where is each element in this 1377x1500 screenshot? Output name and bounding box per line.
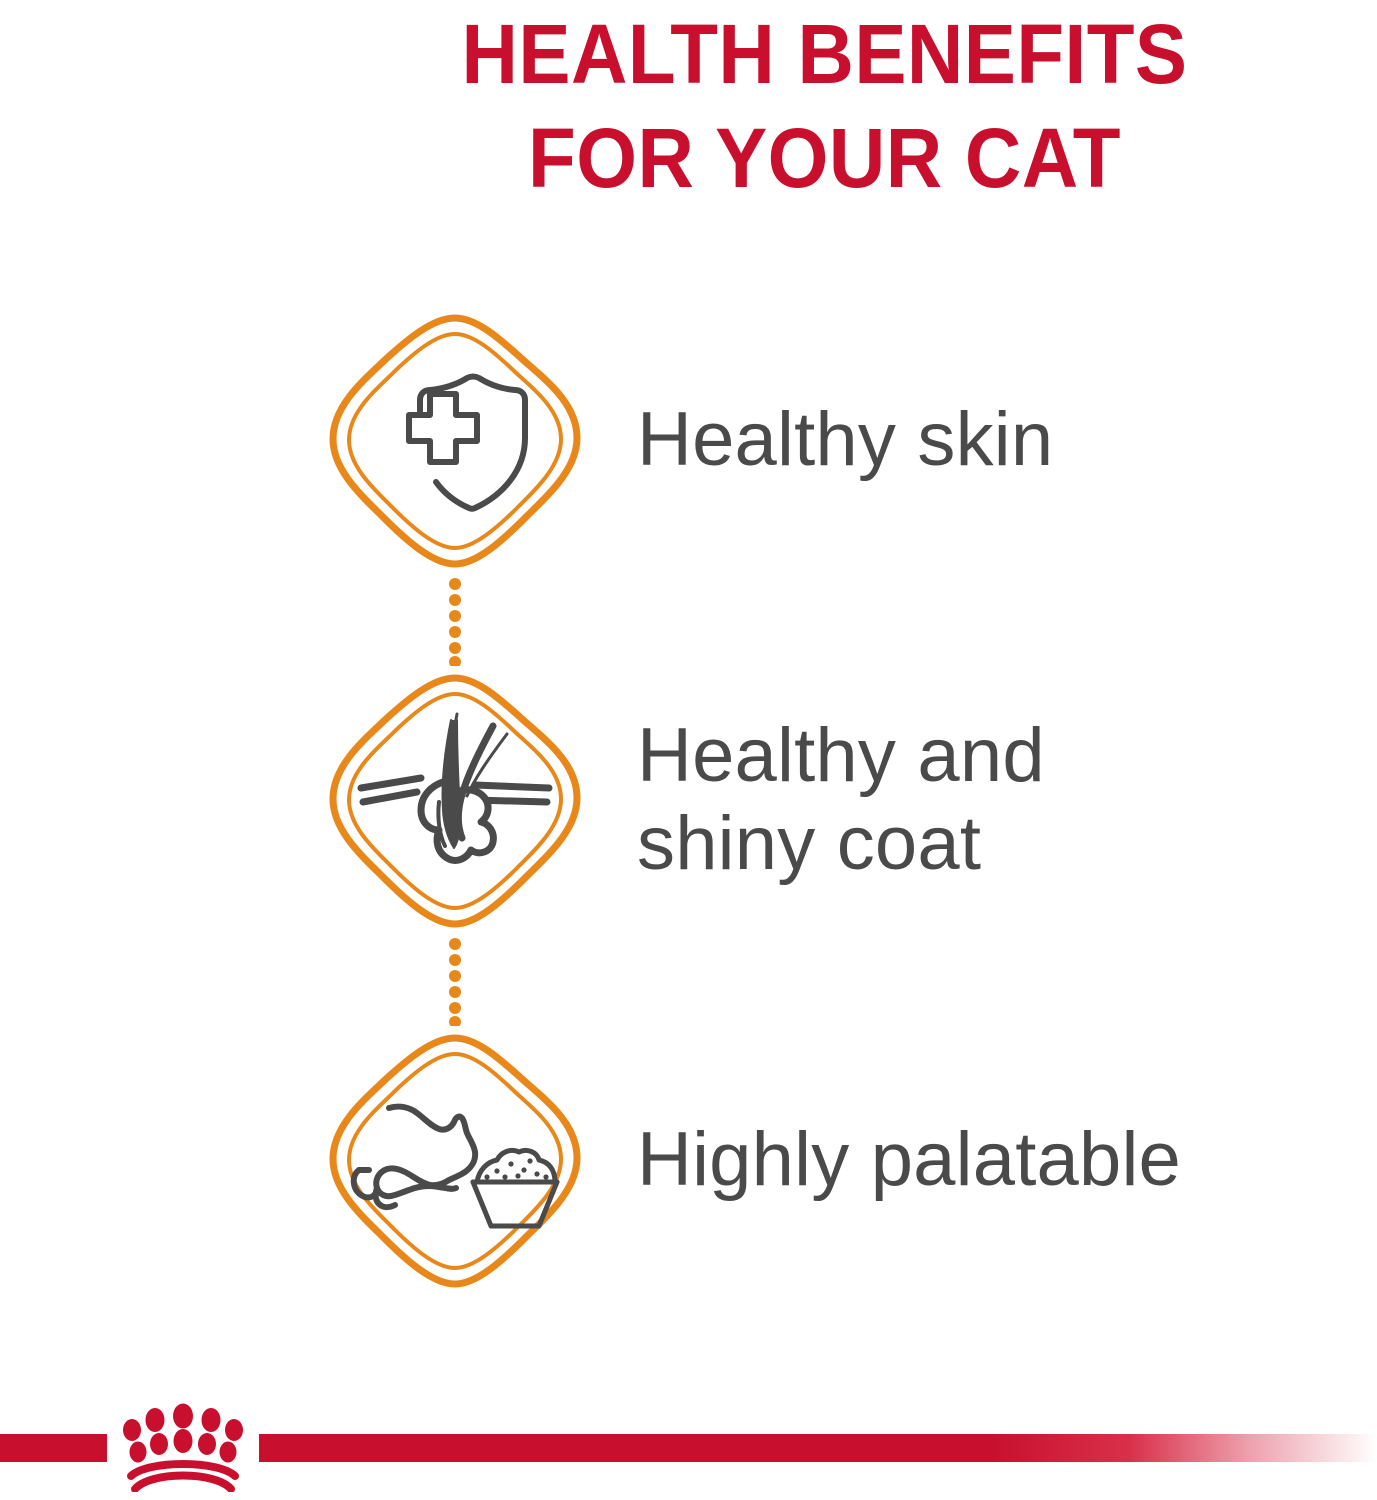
royal-canin-crown-logo <box>93 1392 273 1492</box>
page-title: HEALTH BENEFITS FOR YOUR CAT <box>0 2 1377 210</box>
page-title-line-1: HEALTH BENEFITS <box>311 2 1339 106</box>
health-benefits-infographic: HEALTH BENEFITS FOR YOUR CAT <box>0 0 1377 1500</box>
shield-plus-icon <box>325 310 585 570</box>
hair-follicle-icon <box>325 670 585 930</box>
cat-eating-bowl-icon <box>325 1030 585 1290</box>
benefit-label-text: Highly palatable <box>637 1116 1181 1204</box>
benefit-label-highly-palatable: Highly palatable <box>637 1030 1337 1290</box>
benefit-label-shiny-coat: Healthy andshiny coat <box>637 670 1337 930</box>
benefit-label-healthy-skin: Healthy skin <box>637 310 1337 570</box>
dotted-connector-1 <box>434 576 476 666</box>
footer <box>0 1380 1377 1500</box>
benefit-label-text: Healthy andshiny coat <box>637 712 1045 888</box>
benefit-label-line-1: Healthy and <box>637 713 1045 798</box>
page-title-line-2: FOR YOUR CAT <box>311 106 1339 210</box>
benefit-label-text: Healthy skin <box>637 396 1053 484</box>
dotted-connector-2 <box>434 936 476 1026</box>
benefit-label-line-2: shiny coat <box>637 801 981 886</box>
benefit-item-healthy-skin: Healthy skin <box>0 310 1377 670</box>
benefit-item-highly-palatable: Highly palatable <box>0 1030 1377 1390</box>
benefits-list: Healthy skin <box>0 310 1377 1390</box>
benefit-item-shiny-coat: Healthy andshiny coat <box>0 670 1377 1030</box>
